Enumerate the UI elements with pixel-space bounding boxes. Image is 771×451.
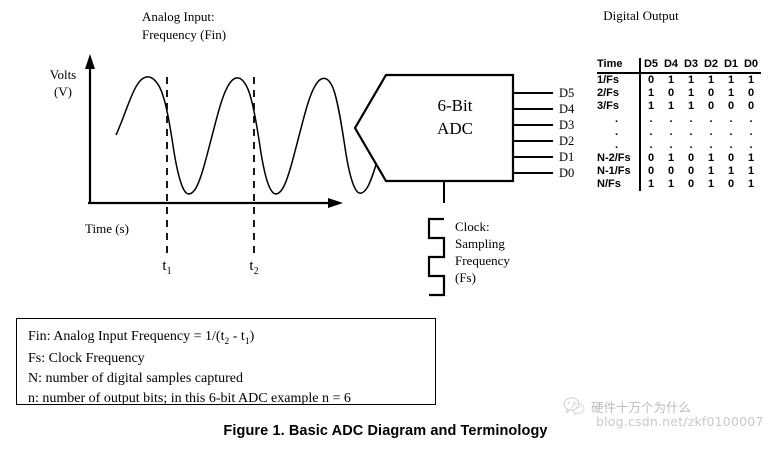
table-row: 2/Fs101010 bbox=[597, 87, 761, 100]
legend-line-nbits: n: number of output bits; in this 6-bit … bbox=[28, 389, 351, 409]
adc-output-label-d3: D3 bbox=[559, 118, 574, 133]
table-cell-time: . bbox=[597, 126, 640, 139]
column-header-d3: D3 bbox=[681, 58, 701, 73]
table-cell-bit: 1 bbox=[681, 87, 701, 100]
legend-line-n: N: number of digital samples captured bbox=[28, 369, 351, 389]
table-cell-bit: 0 bbox=[721, 152, 741, 165]
watermark: 硬件十万个为什么 bbox=[563, 396, 691, 416]
table-cell-bit: 1 bbox=[681, 100, 701, 113]
table-cell-bit: . bbox=[681, 126, 701, 139]
table-cell-bit: 1 bbox=[741, 152, 761, 165]
table-cell-bit: 0 bbox=[701, 87, 721, 100]
table-cell-time: N-2/Fs bbox=[597, 152, 640, 165]
table-row: 3/Fs111000 bbox=[597, 100, 761, 113]
table-cell-bit: 1 bbox=[701, 165, 721, 178]
table-cell-bit: 1 bbox=[741, 178, 761, 191]
table-cell-bit: 1 bbox=[661, 100, 681, 113]
clock-label-line3: Frequency bbox=[455, 252, 510, 269]
table-cell-time: 2/Fs bbox=[597, 87, 640, 100]
adc-title-line1: 6-Bit bbox=[400, 95, 510, 118]
time-marker-label-2: t2 bbox=[242, 258, 266, 278]
time-marker-2-subscript: 2 bbox=[254, 266, 259, 277]
legend-line-fs: Fs: Clock Frequency bbox=[28, 349, 351, 369]
table-cell-bit: . bbox=[661, 113, 681, 126]
column-header-d5: D5 bbox=[640, 58, 661, 73]
adc-output-lines bbox=[513, 93, 553, 173]
watermark-text: 硬件十万个为什么 bbox=[591, 397, 691, 416]
table-row: N/Fs110101 bbox=[597, 178, 761, 191]
time-marker-1-subscript: 1 bbox=[167, 266, 172, 277]
table-cell-bit: . bbox=[741, 113, 761, 126]
table-cell-bit: . bbox=[640, 113, 661, 126]
column-header-d2: D2 bbox=[701, 58, 721, 73]
table-cell-bit: 1 bbox=[661, 178, 681, 191]
table-cell-bit: . bbox=[701, 113, 721, 126]
table-cell-bit: . bbox=[661, 139, 681, 152]
table-cell-bit: 1 bbox=[661, 152, 681, 165]
table-cell-bit: . bbox=[721, 113, 741, 126]
column-header-d4: D4 bbox=[661, 58, 681, 73]
table-cell-bit: 1 bbox=[721, 87, 741, 100]
table-cell-bit: 1 bbox=[640, 178, 661, 191]
adc-output-label-d5: D5 bbox=[559, 86, 574, 101]
table-cell-bit: 1 bbox=[741, 73, 761, 87]
table-cell-bit: . bbox=[741, 126, 761, 139]
table-cell-time: . bbox=[597, 113, 640, 126]
table-cell-bit: 1 bbox=[721, 165, 741, 178]
clock-waveform-icon bbox=[429, 219, 444, 295]
terminology-legend-box: Fin: Analog Input Frequency = 1/(t2 - t1… bbox=[16, 318, 436, 405]
wechat-logo-icon bbox=[563, 396, 585, 416]
table-cell-bit: . bbox=[640, 139, 661, 152]
table-cell-bit: 0 bbox=[640, 152, 661, 165]
table-cell-bit: 0 bbox=[721, 178, 741, 191]
table-cell-bit: 0 bbox=[661, 165, 681, 178]
table-row: 1/Fs011111 bbox=[597, 73, 761, 87]
table-cell-bit: 0 bbox=[741, 100, 761, 113]
digital-output-title: Digital Output bbox=[603, 8, 678, 23]
clock-label-line4: (Fs) bbox=[455, 269, 510, 286]
table-cell-bit: 0 bbox=[721, 100, 741, 113]
table-cell-bit: 0 bbox=[701, 100, 721, 113]
table-cell-bit: 0 bbox=[640, 73, 661, 87]
table-cell-bit: 1 bbox=[701, 73, 721, 87]
figure-canvas: Analog Input: Frequency (Fin) Volts (V) … bbox=[0, 0, 771, 451]
table-cell-bit: 0 bbox=[741, 87, 761, 100]
table-cell-bit: 1 bbox=[741, 165, 761, 178]
table-row: N-1/Fs000111 bbox=[597, 165, 761, 178]
table-cell-time: 1/Fs bbox=[597, 73, 640, 87]
table-cell-bit: 1 bbox=[681, 73, 701, 87]
column-header-d0: D0 bbox=[741, 58, 761, 73]
table-row: ....... bbox=[597, 139, 761, 152]
table-cell-bit: 1 bbox=[661, 73, 681, 87]
y-axis bbox=[85, 54, 95, 203]
table-cell-bit: . bbox=[701, 139, 721, 152]
table-cell-bit: . bbox=[701, 126, 721, 139]
table-cell-bit: 0 bbox=[681, 152, 701, 165]
clock-label-line1: Clock: bbox=[455, 218, 510, 235]
table-cell-bit: 1 bbox=[640, 100, 661, 113]
digital-output-table: Time D5 D4 D3 D2 D1 D0 1/Fs0111112/Fs101… bbox=[597, 58, 761, 191]
table-cell-bit: . bbox=[721, 126, 741, 139]
table-cell-bit: 0 bbox=[661, 87, 681, 100]
watermark-url: blog.csdn.net/zkf0100007 bbox=[596, 414, 764, 429]
legend-fin-text-b: - t bbox=[229, 329, 245, 344]
table-cell-bit: 1 bbox=[701, 178, 721, 191]
table-cell-bit: . bbox=[640, 126, 661, 139]
column-header-d1: D1 bbox=[721, 58, 741, 73]
adc-title-line2: ADC bbox=[400, 118, 510, 141]
table-cell-time: N-1/Fs bbox=[597, 165, 640, 178]
table-row: ....... bbox=[597, 113, 761, 126]
time-marker-label-1: t1 bbox=[155, 258, 179, 278]
legend-fin-text-a: Fin: Analog Input Frequency = 1/(t bbox=[28, 329, 225, 344]
table-row: ....... bbox=[597, 126, 761, 139]
table-cell-bit: 1 bbox=[640, 87, 661, 100]
adc-output-label-d4: D4 bbox=[559, 102, 574, 117]
table-cell-bit: 0 bbox=[681, 165, 701, 178]
x-axis bbox=[88, 198, 343, 208]
table-cell-bit: . bbox=[721, 139, 741, 152]
table-cell-time: N/Fs bbox=[597, 178, 640, 191]
adc-output-label-d0: D0 bbox=[559, 166, 574, 181]
table-cell-bit: . bbox=[661, 126, 681, 139]
table-header-row: Time D5 D4 D3 D2 D1 D0 bbox=[597, 58, 761, 73]
table-cell-bit: . bbox=[741, 139, 761, 152]
table-cell-bit: . bbox=[681, 113, 701, 126]
legend-line-fin: Fin: Analog Input Frequency = 1/(t2 - t1… bbox=[28, 327, 351, 349]
adc-output-label-d2: D2 bbox=[559, 134, 574, 149]
adc-output-label-d1: D1 bbox=[559, 150, 574, 165]
table-cell-bit: 0 bbox=[681, 178, 701, 191]
table-cell-bit: 1 bbox=[721, 73, 741, 87]
table-cell-bit: . bbox=[681, 139, 701, 152]
analog-waveform bbox=[116, 77, 388, 194]
adc-title: 6-Bit ADC bbox=[400, 95, 510, 141]
legend-rows: Fin: Analog Input Frequency = 1/(t2 - t1… bbox=[28, 327, 351, 409]
clock-label-line2: Sampling bbox=[455, 235, 510, 252]
column-header-time: Time bbox=[597, 58, 640, 73]
table-cell-time: 3/Fs bbox=[597, 100, 640, 113]
legend-fin-text-c: ) bbox=[250, 329, 255, 344]
table-cell-time: . bbox=[597, 139, 640, 152]
clock-label: Clock: Sampling Frequency (Fs) bbox=[455, 218, 510, 287]
table-cell-bit: 1 bbox=[701, 152, 721, 165]
table-row: N-2/Fs010101 bbox=[597, 152, 761, 165]
table-cell-bit: 0 bbox=[640, 165, 661, 178]
